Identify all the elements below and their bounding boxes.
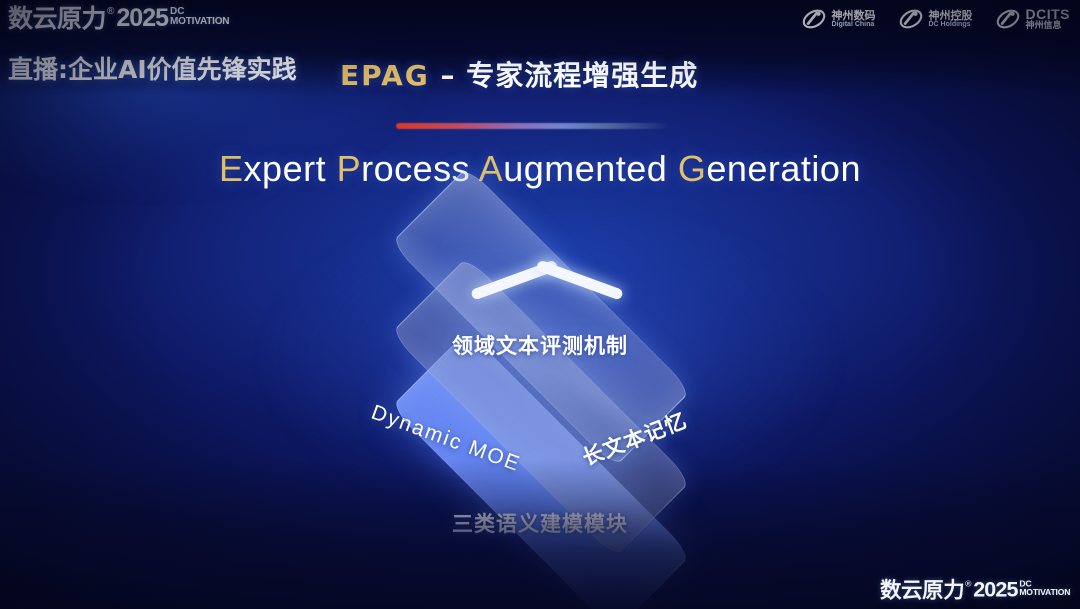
partner-logo-bar: 神州数码 Digital China 神州控股 DC Holdings (801, 6, 1071, 32)
subtitle-cap-g: G (678, 148, 707, 189)
slide-heading: EPAG – 专家流程增强生成 (340, 54, 698, 94)
watermark-logo-registered: ® (965, 580, 971, 589)
partner-name-cn-1: 神州控股 (929, 10, 973, 22)
watermark-logo-motivation: MOTIVATION (1019, 589, 1070, 597)
brand-logo-registered: ® (107, 6, 114, 17)
subtitle-expert-process-augmented-generation: Expert Process Augmented Generation (0, 148, 1080, 190)
watermark-logo-dc-motivation: DC MOTIVATION (1019, 580, 1070, 598)
partner-name-cn-2: DCITS (1026, 7, 1071, 22)
partner-logo-dcits: DCITS 神州信息 (995, 6, 1071, 32)
subtitle-cap-a: A (479, 148, 504, 189)
brand-logo-motivation: MOTIVATION (170, 17, 229, 27)
brand-logo-name: 数云原力 (8, 6, 106, 31)
slide-heading-accent: EPAG (340, 59, 430, 92)
subtitle-rest-process: rocess (361, 148, 470, 189)
brand-logo-year: 2025 (116, 6, 168, 31)
subtitle-rest-expert: xpert (244, 148, 327, 189)
brand-logo: 数云原力 ® 2025 DC MOTIVATION (8, 6, 229, 31)
partner-text-dcits: DCITS 神州信息 (1026, 7, 1071, 31)
partner-name-en-1: DC Holdings (929, 21, 973, 28)
partner-name-cn-0: 神州数码 (832, 10, 876, 22)
partner-text-dc-holdings: 神州控股 DC Holdings (929, 10, 973, 29)
watermark-logo: 数云原力 ® 2025 DC MOTIVATION (880, 580, 1070, 602)
subtitle-cap-e: E (219, 148, 244, 189)
swirl-logo-icon (995, 6, 1021, 32)
brand-logo-dc-motivation: DC MOTIVATION (170, 6, 229, 27)
watermark-logo-year: 2025 (973, 580, 1017, 602)
subtitle-rest-augmented: ugmented (503, 148, 667, 189)
subtitle-cap-p: P (337, 148, 362, 189)
slide-heading-plain: – 专家流程增强生成 (430, 59, 699, 92)
partner-logo-digital-china: 神州数码 Digital China (801, 6, 876, 32)
background-center-glow (170, 150, 930, 570)
partner-name-en-2: 神州信息 (1026, 22, 1071, 31)
partner-logo-dc-holdings: 神州控股 DC Holdings (898, 6, 973, 32)
partner-text-digital-china: 神州数码 Digital China (832, 10, 876, 29)
swirl-logo-icon (898, 6, 924, 32)
accent-rule (396, 123, 668, 129)
swirl-logo-icon (801, 6, 827, 32)
subtitle-rest-generation: eneration (706, 148, 861, 189)
slide-canvas: 数云原力 ® 2025 DC MOTIVATION 直播:企业AI价值先锋实践 … (0, 0, 1080, 609)
partner-name-en-0: Digital China (832, 21, 876, 28)
live-stream-title: 直播:企业AI价值先锋实践 (8, 50, 297, 86)
watermark-logo-name: 数云原力 (880, 580, 964, 602)
